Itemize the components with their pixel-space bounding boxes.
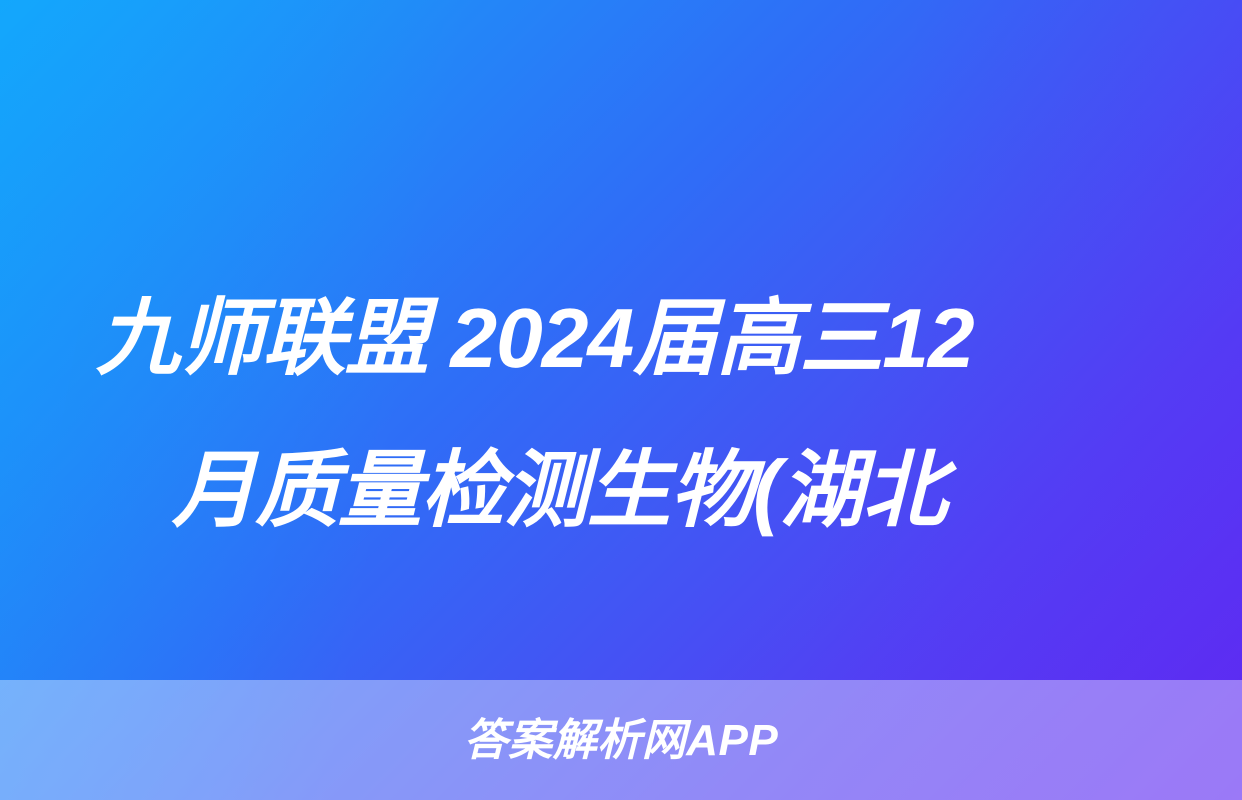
- headline-line-1: 九师联盟 2024届高三12: [96, 262, 1242, 414]
- exam-cover-card: 九师联盟 2024届高三12 月质量检测生物(湖北 答案解析网APP: [0, 0, 1242, 800]
- headline-block: 九师联盟 2024届高三12 月质量检测生物(湖北: [96, 262, 1242, 566]
- brand-band: 答案解析网APP: [0, 680, 1242, 800]
- brand-watermark-label: 答案解析网APP: [464, 719, 778, 763]
- headline-line-2: 月质量检测生物(湖北: [96, 414, 1242, 566]
